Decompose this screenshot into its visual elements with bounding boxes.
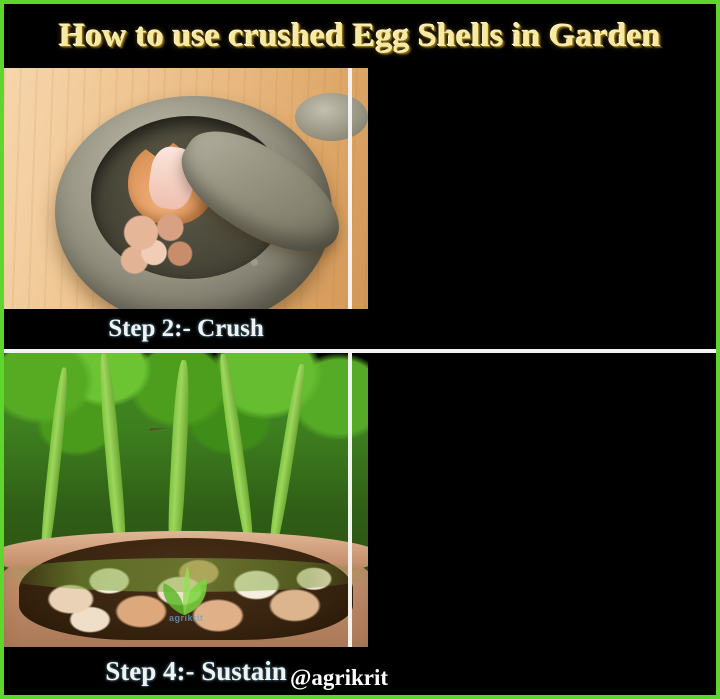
agrikrit-logo-text: agrikrit	[142, 613, 231, 623]
agrikrit-leaf-logo-icon	[155, 558, 213, 620]
crushed-shell-crumbs	[120, 214, 200, 276]
step-4-photo	[4, 353, 368, 695]
step-2-photo	[4, 68, 368, 349]
step-2-cell[interactable]: Step 2:- Crush	[4, 68, 368, 349]
steps-grid: dreamstime Step 1:- Collect Step 2:- Cru…	[4, 68, 716, 695]
vertical-divider	[348, 68, 352, 695]
horizontal-divider	[4, 349, 716, 353]
step-2-label: Step 2:- Crush	[108, 315, 264, 343]
poster: How to use crushed Egg Shells in Garden …	[0, 0, 720, 699]
pestle-tip	[295, 93, 368, 141]
account-watermark: @agrikrit	[290, 665, 388, 691]
step-2-label-band: Step 2:- Crush	[4, 309, 368, 349]
page-title: How to use crushed Egg Shells in Garden	[59, 18, 661, 55]
step-4-label: Step 4:- Sustain	[105, 656, 287, 687]
step-4-cell[interactable]: Step 4:- Sustain	[4, 353, 368, 695]
title-bar: How to use crushed Egg Shells in Garden	[4, 4, 716, 68]
